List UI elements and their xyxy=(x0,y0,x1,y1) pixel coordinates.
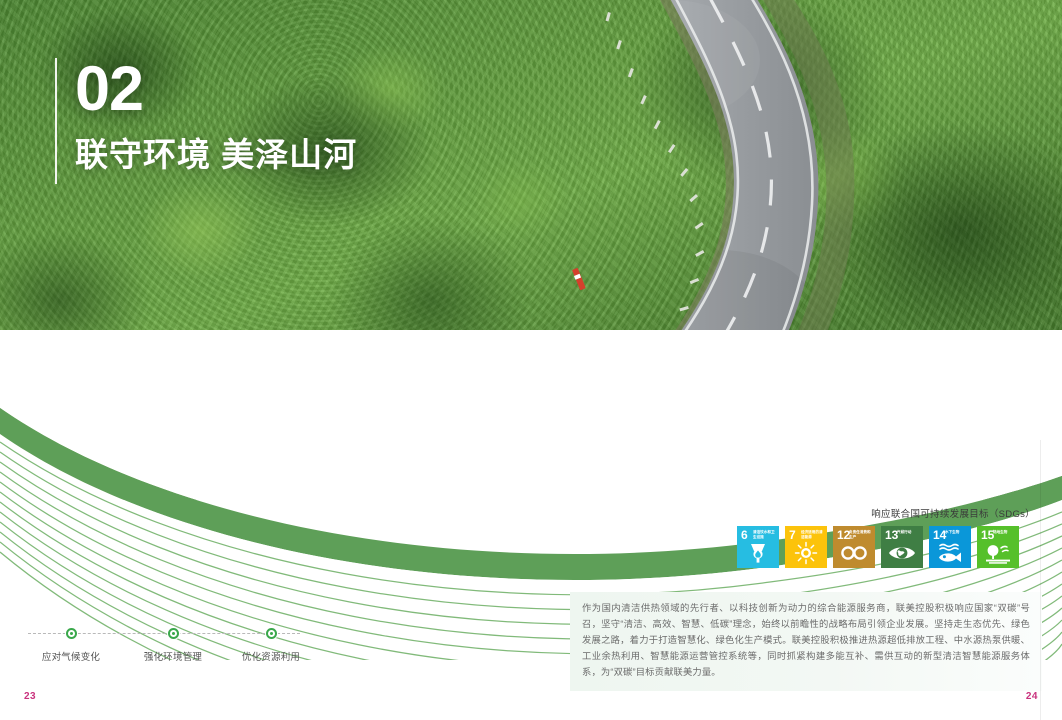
sdg-goal-14[interactable]: 14 水下生物 xyxy=(929,526,971,568)
hero-image: 02 联守环境 美泽山河 xyxy=(0,0,1062,500)
spread-gutter-line xyxy=(1040,440,1041,720)
sdg-goal-15[interactable]: 15 陆地生物 xyxy=(977,526,1019,568)
chapter-heading: 02 联守环境 美泽山河 xyxy=(55,58,357,184)
tree-bird-icon xyxy=(977,540,1019,566)
milestone-label-3: 优化资源利用 xyxy=(242,649,300,663)
sdg-label: 经济适用的清洁能源 xyxy=(801,530,825,540)
sdg-label: 水下生物 xyxy=(945,530,969,535)
sun-icon xyxy=(785,540,827,566)
sdg-goal-13[interactable]: 13 气候行动 xyxy=(881,526,923,568)
body-paragraph: 作为国内清洁供热领域的先行者、以科技创新为动力的综合能源服务商，联美控股积极响应… xyxy=(582,601,1030,681)
sdg-goal-6[interactable]: 6 清洁饮水和卫生设施 xyxy=(737,526,779,568)
water-drop-icon xyxy=(737,540,779,566)
sdg-label: 清洁饮水和卫生设施 xyxy=(753,530,777,540)
milestone-strip: 应对气候变化 强化环境管理 优化资源利用 xyxy=(28,628,328,665)
heading-rule xyxy=(55,58,57,184)
milestone-label-2: 强化环境管理 xyxy=(144,649,202,663)
fish-icon xyxy=(929,540,971,566)
milestone-dot-1[interactable] xyxy=(66,628,77,639)
milestone-labels: 应对气候变化 强化环境管理 优化资源利用 xyxy=(28,649,328,665)
milestone-dot-3[interactable] xyxy=(266,628,277,639)
sdg-goal-12[interactable]: 12 负责任消费和生产 xyxy=(833,526,875,568)
milestone-track xyxy=(28,628,328,640)
sdg-label: 陆地生物 xyxy=(993,530,1017,535)
page-number-right: 24 xyxy=(1026,691,1038,702)
sdg-caption: 响应联合国可持续发展目标（SDGs） xyxy=(737,506,1037,520)
sdg-label: 负责任消费和生产 xyxy=(849,530,873,540)
milestone-dot-2[interactable] xyxy=(168,628,179,639)
chapter-number: 02 xyxy=(75,58,357,121)
roadside-marker xyxy=(572,268,586,291)
sdg-block: 响应联合国可持续发展目标（SDGs） 6 清洁饮水和卫生设施 7 经济适用的清洁… xyxy=(737,506,1037,568)
eye-earth-icon xyxy=(881,540,923,566)
milestone-label-1: 应对气候变化 xyxy=(42,649,100,663)
infinity-icon xyxy=(833,540,875,566)
sdg-goal-7[interactable]: 7 经济适用的清洁能源 xyxy=(785,526,827,568)
body-text-panel: 作为国内清洁供热领域的先行者、以科技创新为动力的综合能源服务商，联美控股积极响应… xyxy=(570,592,1042,691)
page-number-left: 23 xyxy=(24,691,36,702)
sdg-label: 气候行动 xyxy=(897,530,921,535)
report-spread-page: 02 联守环境 美泽山河 响应联合国可持续发展目标（ xyxy=(0,0,1062,720)
sdg-icon-row: 6 清洁饮水和卫生设施 7 经济适用的清洁能源 xyxy=(737,526,1037,568)
road-graphic xyxy=(470,0,890,500)
chapter-title: 联守环境 美泽山河 xyxy=(75,137,357,173)
